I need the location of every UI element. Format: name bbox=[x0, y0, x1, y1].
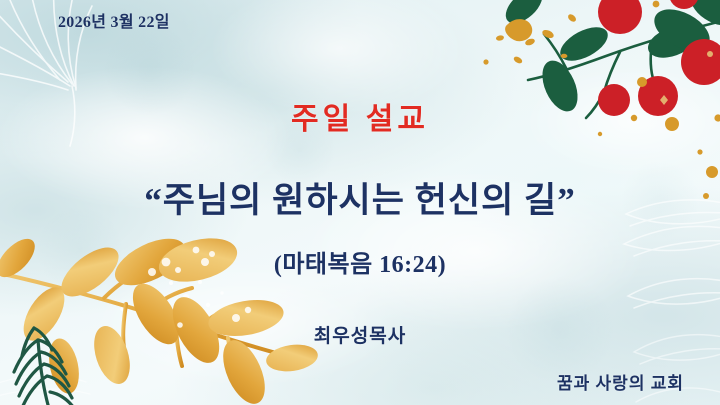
slide-kicker: 주일 설교 bbox=[0, 94, 720, 138]
speaker-name: 최우성목사 bbox=[0, 321, 720, 348]
scripture-reference: (마태복음 16:24) bbox=[0, 244, 720, 279]
church-name: 꿈과 사랑의 교회 bbox=[557, 369, 684, 394]
sermon-slide: 2026년 3월 22일 주일 설교 “주님의 원하시는 헌신의 길” (마태복… bbox=[0, 0, 720, 405]
slide-headline: “주님의 원하시는 헌신의 길” bbox=[0, 172, 720, 223]
slide-date: 2026년 3월 22일 bbox=[58, 8, 170, 32]
